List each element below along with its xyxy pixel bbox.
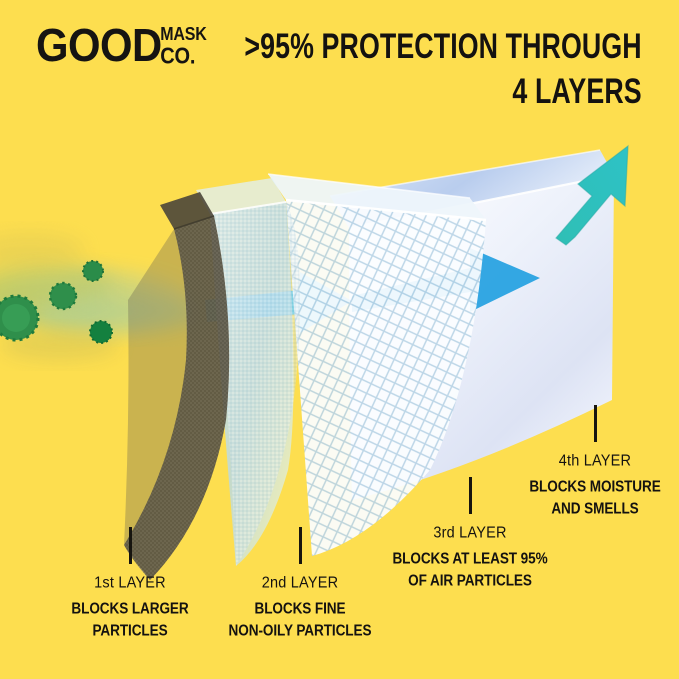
logo-good-text: GOOD [36,24,162,68]
layer-2-number: 2nd LAYER [205,574,395,591]
layer-3-description: BLOCKS AT LEAST 95% OF AIR PARTICLES [373,548,567,593]
layer-1-number: 1st LAYER [45,574,215,591]
logo-co-text: CO. [160,45,206,68]
callout-tick-4 [594,405,597,442]
layer-1-description: BLOCKS LARGER PARTICLES [48,598,213,643]
layer-2-description: BLOCKS FINE NON-OILY PARTICLES [208,598,392,643]
mask-layer-1 [124,192,229,580]
callout-tick-2 [299,527,302,564]
layer-4-description: BLOCKS MOISTURE AND SMELLS [513,476,678,521]
virus-particle [90,321,112,343]
layer-1-desc-line-1: BLOCKS LARGER [48,598,213,620]
page-title: >95% PROTECTION THROUGH 4 LAYERS [245,25,642,115]
layer-3-desc-line-2: OF AIR PARTICLES [373,570,567,592]
layer-4-desc-line-1: BLOCKS MOISTURE [513,476,678,498]
callout-tick-3 [469,477,472,514]
callout-layer-1: 1st LAYER BLOCKS LARGER PARTICLES [45,527,215,640]
layer-3-desc-line-1: BLOCKS AT LEAST 95% [373,548,567,570]
brand-logo: GOOD MASK CO. [36,24,207,65]
layer-2-desc-line-2: NON-OILY PARTICLES [208,620,392,642]
callout-layer-4: 4th LAYER BLOCKS MOISTURE AND SMELLS [510,405,679,518]
virus-particle [50,283,76,309]
virus-particle [83,261,103,281]
layer-2-desc-line-1: BLOCKS FINE [208,598,392,620]
logo-sub-stack: MASK CO. [160,26,206,65]
callout-tick-1 [129,527,132,564]
layer-4-desc-line-2: AND SMELLS [513,498,678,520]
logo-mask-text: MASK [160,26,206,44]
infographic-poster: GOOD MASK CO. >95% PROTECTION THROUGH 4 … [0,0,679,679]
headline-line-2: 4 LAYERS [245,70,642,115]
layer-3-number: 3rd LAYER [370,524,570,541]
callout-layer-2: 2nd LAYER BLOCKS FINE NON-OILY PARTICLES [205,527,395,640]
virus-particle [0,296,38,340]
headline-line-1: >95% PROTECTION THROUGH [245,25,642,70]
layer-4-number: 4th LAYER [510,452,679,469]
layer-1-desc-line-2: PARTICLES [48,620,213,642]
